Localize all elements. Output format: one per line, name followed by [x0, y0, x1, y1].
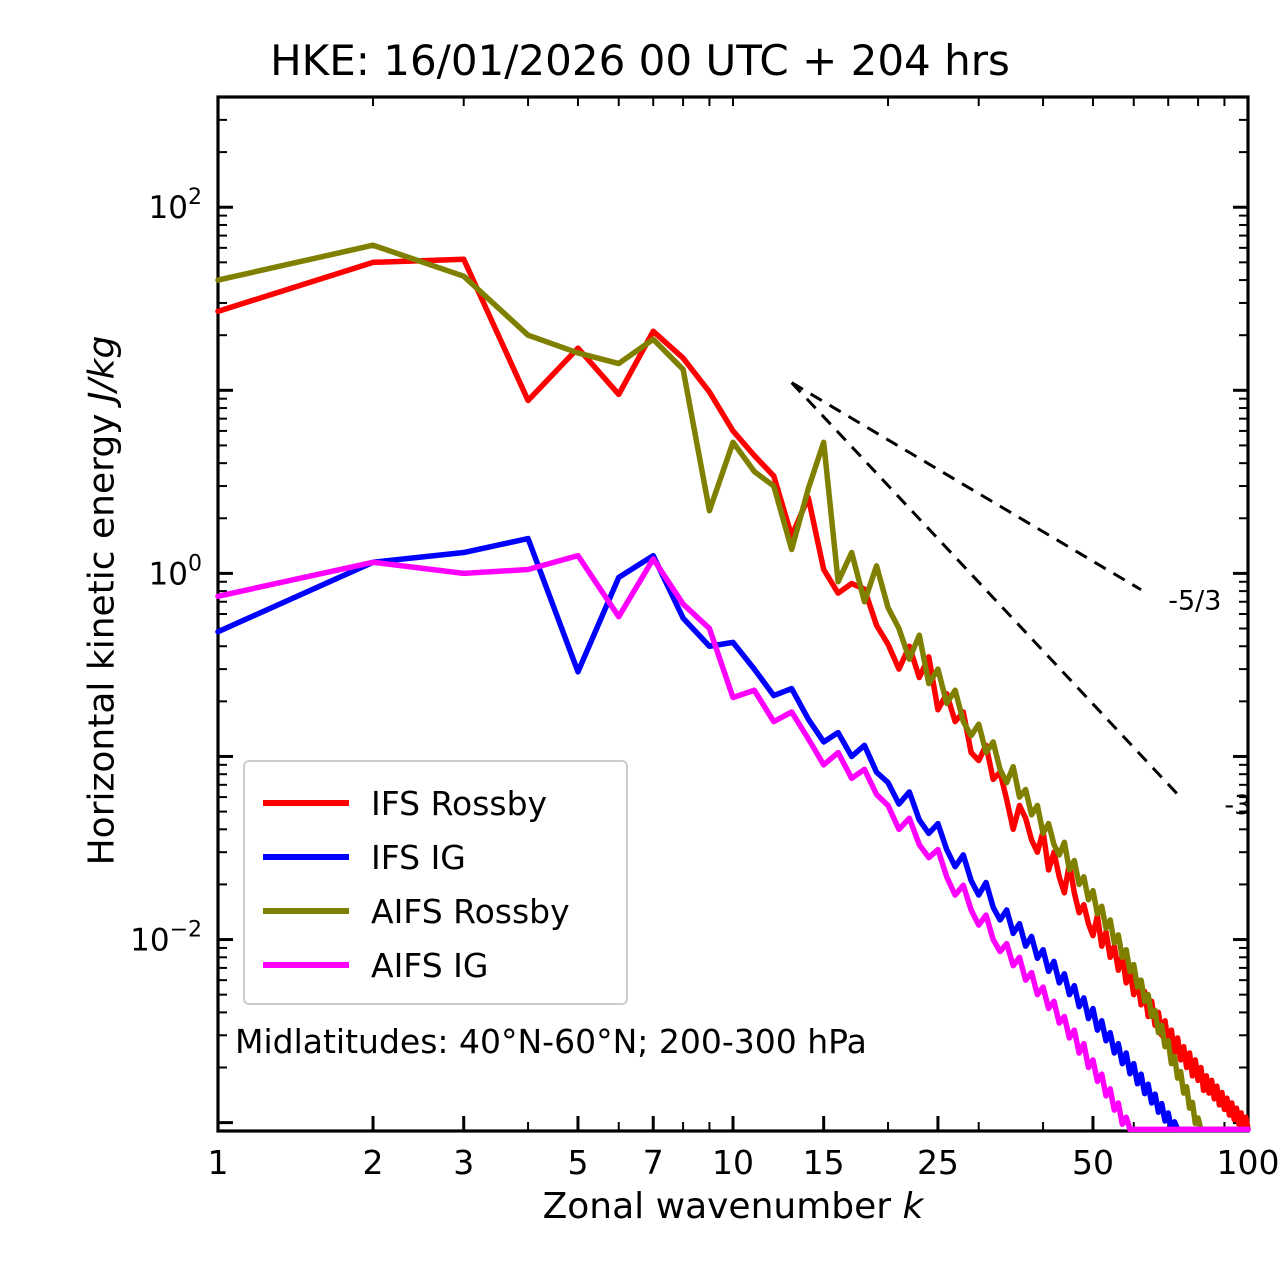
x-tick-label: 2	[363, 1143, 384, 1182]
x-tick-label: 1	[208, 1143, 229, 1182]
slope-line--3	[792, 383, 1178, 795]
legend-label: AIFS IG	[371, 946, 488, 985]
legend-item-aifs-rossby[interactable]: AIFS Rossby	[245, 884, 626, 938]
legend-item-aifs-ig[interactable]: AIFS IG	[245, 938, 626, 992]
x-tick-label: 7	[643, 1143, 664, 1182]
reference-slope-lines	[792, 383, 1178, 795]
reference-slope-labels: -5/3-3	[1168, 586, 1251, 821]
legend-swatch-ifs-rossby	[263, 800, 349, 806]
legend-swatch-aifs-ig	[263, 962, 349, 968]
slope-label--3: -3	[1224, 790, 1251, 821]
legend-item-ifs-ig[interactable]: IFS IG	[245, 830, 626, 884]
chart-figure: HKE: 16/01/2026 00 UTC + 204 hrs Horizon…	[0, 0, 1280, 1288]
legend-label: AIFS Rossby	[371, 892, 570, 931]
x-tick-label: 5	[567, 1143, 588, 1182]
y-tick-label: 102	[149, 185, 202, 226]
x-tick-label: 3	[453, 1143, 474, 1182]
x-tick-label: 50	[1072, 1143, 1114, 1182]
slope-line--5-3	[792, 383, 1141, 590]
legend-label: IFS Rossby	[371, 784, 547, 823]
x-tick-label: 10	[712, 1143, 754, 1182]
plot-canvas: 123571015255010010210010−2 -5/3-3	[0, 0, 1280, 1288]
region-annotation: Midlatitudes: 40°N-60°N; 200-300 hPa	[235, 1022, 867, 1061]
slope-label--5-3: -5/3	[1168, 586, 1221, 617]
x-tick-label: 15	[803, 1143, 845, 1182]
legend-item-ifs-rossby[interactable]: IFS Rossby	[245, 776, 626, 830]
y-tick-label: 10−2	[130, 918, 202, 959]
legend-swatch-aifs-rossby	[263, 908, 349, 914]
legend: IFS RossbyIFS IGAIFS RossbyAIFS IG	[243, 760, 628, 1005]
legend-label: IFS IG	[371, 838, 466, 877]
x-tick-label: 100	[1217, 1143, 1280, 1182]
y-tick-label: 100	[149, 551, 202, 592]
x-tick-label: 25	[917, 1143, 959, 1182]
legend-swatch-ifs-ig	[263, 854, 349, 860]
